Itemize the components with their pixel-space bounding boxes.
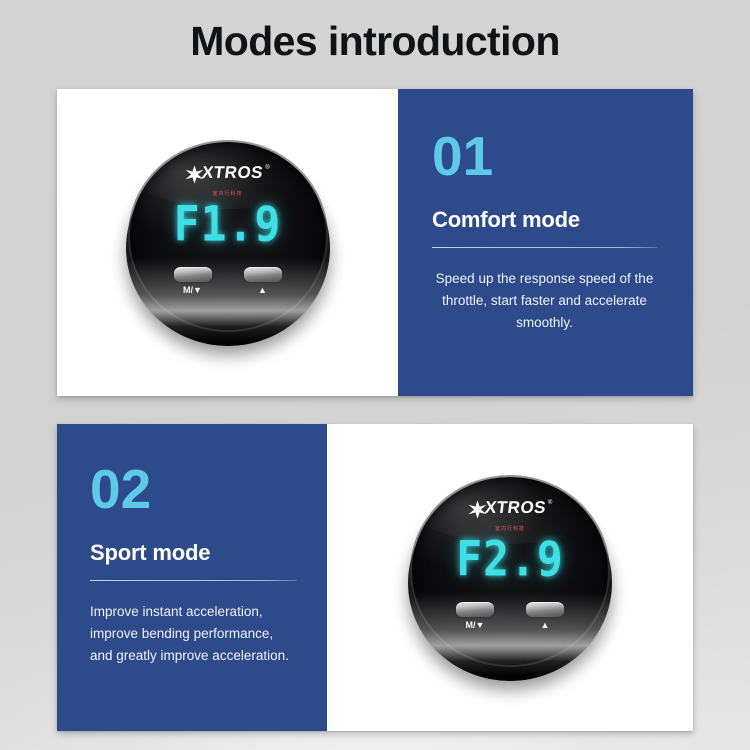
mode-down-button[interactable]: M/▼ — [173, 267, 213, 295]
device-buttons-1: M/▼ ▲ — [130, 267, 326, 295]
device-showcase-2: XTROS ® 室内行科技 F2.9 M/▼ ▲ — [327, 424, 693, 731]
mode-down-label: M/▼ — [455, 620, 495, 630]
brand-subtext: 室内行科技 — [130, 190, 326, 197]
device-buttons-2: M/▼ ▲ — [412, 602, 608, 630]
device-display-2: F2.9 — [412, 532, 608, 588]
throttle-controller-device-2: XTROS ® 室内行科技 F2.9 M/▼ ▲ — [404, 469, 616, 687]
brand-wordmark: XTROS — [484, 499, 547, 516]
mode-down-key[interactable] — [456, 602, 494, 617]
up-key[interactable] — [244, 267, 282, 282]
mode-down-key[interactable] — [174, 267, 212, 282]
up-button[interactable]: ▲ — [243, 267, 283, 295]
device-display-1: F1.9 — [130, 197, 326, 253]
device-face: XTROS ® 室内行科技 F1.9 M/▼ ▲ — [130, 142, 326, 330]
registered-icon: ® — [265, 165, 269, 171]
device-showcase-1: XTROS ® 室内行科技 F1.9 M/▼ ▲ — [57, 89, 398, 396]
mode-down-button[interactable]: M/▼ — [455, 602, 495, 630]
registered-icon: ® — [548, 500, 552, 506]
mode-divider — [432, 247, 657, 248]
mode-description-sport: Improve instant acceleration, improve be… — [90, 601, 297, 667]
up-key[interactable] — [526, 602, 564, 617]
throttle-controller-device-1: XTROS ® 室内行科技 F1.9 M/▼ ▲ — [122, 134, 334, 352]
brand-logo-2: XTROS ® 室内行科技 — [412, 499, 608, 532]
mode-name-sport: Sport mode — [90, 540, 297, 566]
brand-logo-1: XTROS ® 室内行科技 — [130, 164, 326, 197]
mode-name-comfort: Comfort mode — [432, 207, 657, 233]
up-button[interactable]: ▲ — [525, 602, 565, 630]
page-title: Modes introduction — [0, 18, 750, 65]
mode-number-02: 02 — [90, 462, 297, 517]
mode-info-comfort: 01 Comfort mode Speed up the response sp… — [398, 89, 693, 396]
mode-description-comfort: Speed up the response speed of the throt… — [432, 268, 657, 334]
mode-info-sport: 02 Sport mode Improve instant accelerati… — [57, 424, 327, 731]
up-label: ▲ — [243, 285, 283, 295]
brand-subtext: 室内行科技 — [412, 525, 608, 532]
mode-panel-sport: 02 Sport mode Improve instant accelerati… — [57, 424, 693, 731]
mode-divider — [90, 580, 297, 581]
page-root: Modes introduction XTROS ® — [0, 0, 750, 750]
up-label: ▲ — [525, 620, 565, 630]
mode-panel-comfort: XTROS ® 室内行科技 F1.9 M/▼ ▲ — [57, 89, 693, 396]
mode-down-label: M/▼ — [173, 285, 213, 295]
mode-number-01: 01 — [432, 129, 657, 184]
device-face: XTROS ® 室内行科技 F2.9 M/▼ ▲ — [412, 477, 608, 665]
brand-wordmark: XTROS — [201, 164, 264, 181]
